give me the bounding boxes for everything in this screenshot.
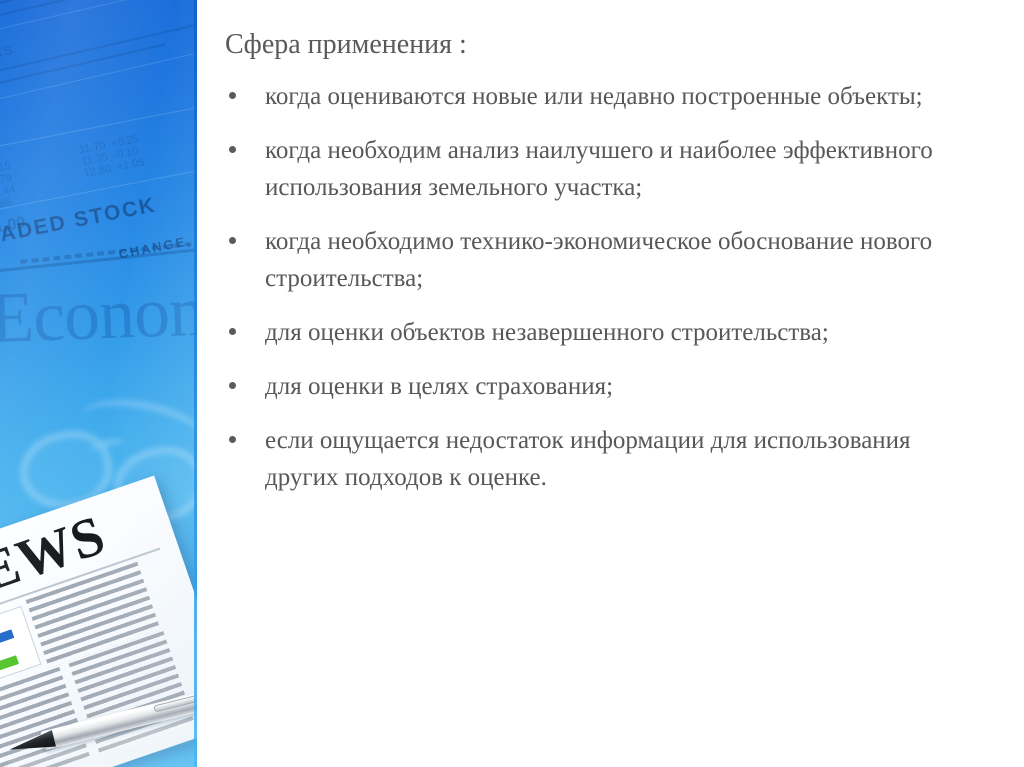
bullet-dot-icon: [229, 92, 236, 99]
economy-masthead-word: Econom: [0, 274, 197, 354]
slide-content-area: Сфера применения : когда оцениваются нов…: [197, 0, 1024, 767]
bullet-dot-icon: [229, 237, 236, 244]
bullet-dot-icon: [229, 436, 236, 443]
list-item: когда оцениваются новые или недавно пост…: [219, 78, 989, 115]
list-item: если ощущается недостаток информации для…: [219, 422, 989, 496]
bullet-dot-icon: [229, 328, 236, 335]
decorative-side-panel: US STOCKS 12.1511.7910.449.86 1.00 11.70…: [0, 0, 197, 767]
list-item-text: если ощущается недостаток информации для…: [265, 422, 989, 496]
bullet-list: когда оцениваются новые или недавно пост…: [219, 78, 989, 496]
bullet-dot-icon: [229, 382, 236, 389]
slide-title: Сфера применения :: [225, 28, 467, 62]
list-item: когда необходим анализ наилучшего и наиб…: [219, 132, 989, 206]
presentation-slide: US STOCKS 12.1511.7910.449.86 1.00 11.70…: [0, 0, 1024, 767]
list-item: для оценки в целях страхования;: [219, 368, 989, 405]
list-item-text: когда необходим анализ наилучшего и наиб…: [265, 132, 989, 206]
list-item: когда необходимо технико-экономическое о…: [219, 223, 989, 297]
list-item: для оценки объектов незавершенного строи…: [219, 314, 989, 351]
list-item-text: когда оцениваются новые или недавно пост…: [265, 78, 989, 115]
list-item-text: для оценки объектов незавершенного строи…: [265, 314, 989, 351]
list-item-text: для оценки в целях страхования;: [265, 368, 989, 405]
bullet-dot-icon: [229, 146, 236, 153]
list-item-text: когда необходимо технико-экономическое о…: [265, 223, 989, 297]
